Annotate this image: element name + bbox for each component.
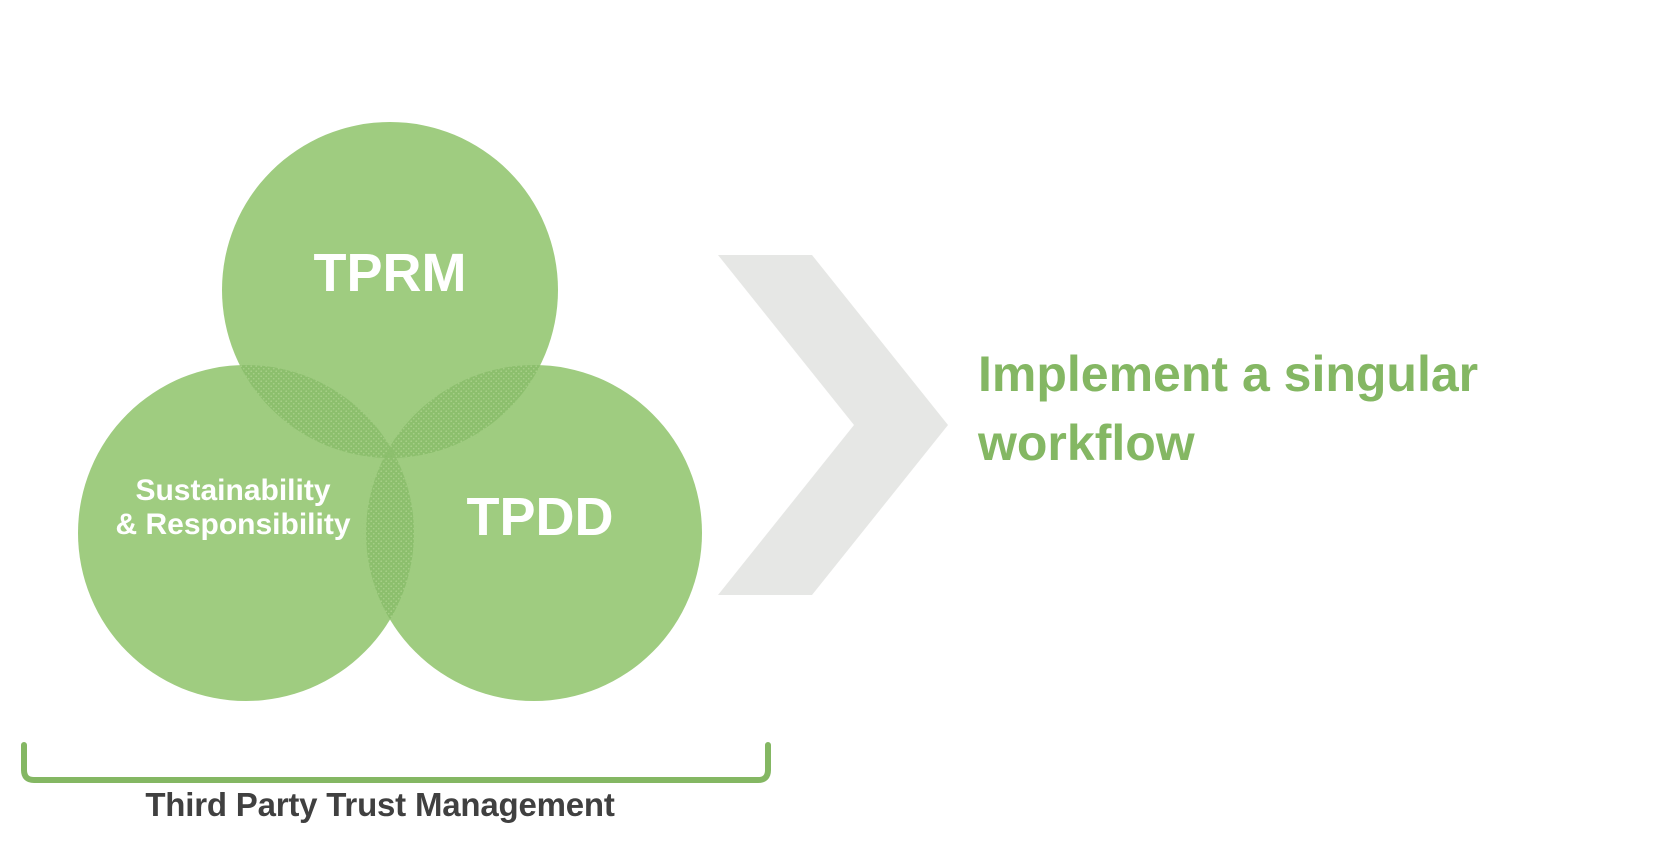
venn-diagram: TPRM Sustainability & Responsibility TPD…	[0, 0, 780, 720]
venn-diagram-svg	[0, 0, 780, 720]
callout-text: Implement a singular workflow	[978, 340, 1618, 478]
bracket-group: Third Party Trust Management	[0, 690, 800, 862]
double-chevron-right-icon	[700, 255, 960, 595]
slide-canvas: TPRM Sustainability & Responsibility TPD…	[0, 0, 1672, 862]
curly-bracket-icon	[0, 690, 800, 800]
bracket-caption: Third Party Trust Management	[0, 786, 760, 824]
